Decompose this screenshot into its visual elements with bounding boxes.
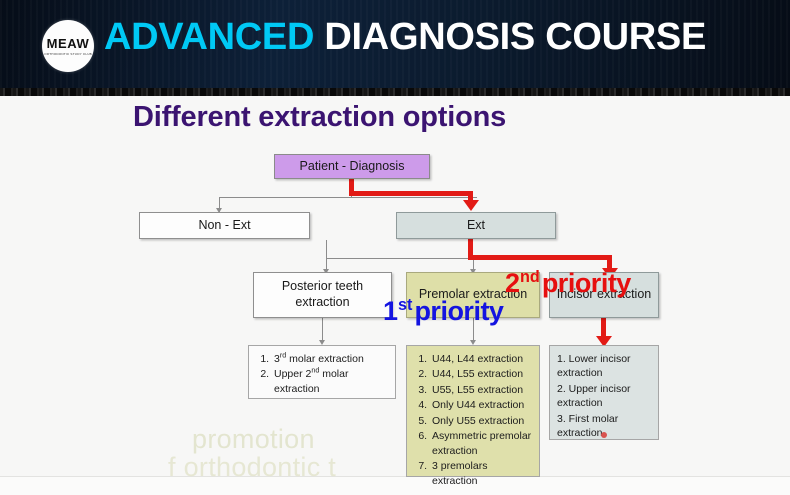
connector-row1-horizontal [219,197,477,198]
annotation-2-ordinal: 2 [505,268,520,298]
list-posterior-items: 3rd molar extractionUpper 2nd molar extr… [256,352,390,396]
node-non-ext-label: Non - Ext [198,218,250,234]
list-item: 2. Upper incisor extraction [557,382,653,411]
list-incisor-details[interactable]: 1. Lower incisor extraction2. Upper inci… [549,345,659,440]
annotation-second-priority: 2ndpriority [505,268,631,299]
node-patient-diagnosis[interactable]: Patient - Diagnosis [274,154,430,179]
annotation-1-word: priority [414,296,503,326]
list-posterior-details[interactable]: 3rd molar extractionUpper 2nd molar extr… [248,345,396,399]
course-title: ADVANCED DIAGNOSIS COURSE [104,16,706,59]
list-item: 3rd molar extraction [272,352,390,366]
meaw-logo: MEAW ORTHODONTIC STUDY CLUB [42,20,94,72]
list-incisor-items: 1. Lower incisor extraction2. Upper inci… [557,352,653,441]
list-premolar-details[interactable]: U44, L44 extractionU44, L55 extractionU5… [406,345,540,477]
node-ext-label: Ext [467,218,485,234]
logo-subtext: ORTHODONTIC STUDY CLUB [44,52,92,56]
course-title-advanced: ADVANCED [104,16,314,58]
node-posterior-teeth-extraction[interactable]: Posterior teeth extraction [253,272,392,318]
annotation-first-priority: 1stpriority [383,296,503,327]
slide-body-background [0,96,790,476]
page-title: Different extraction options [133,101,506,134]
list-item: 1. Lower incisor extraction [557,352,653,381]
banner-bottom-strip [0,88,790,96]
annotation-1-suffix: st [398,296,412,314]
incisor-list-marker [601,432,607,438]
slide-canvas: MEAW ORTHODONTIC STUDY CLUB ADVANCED DIA… [0,0,790,495]
node-ext[interactable]: Ext [396,212,556,239]
red-arrowhead-ext [463,200,479,211]
list-item: Asymmetric premolar extraction [430,429,534,458]
annotation-2-suffix: nd [520,268,540,286]
red-path-root-to-ext-horizontal [349,191,473,196]
logo-text: MEAW [47,37,90,50]
list-item: Only U44 extraction [430,398,534,412]
annotation-1-ordinal: 1 [383,296,398,326]
node-posterior-label: Posterior teeth extraction [254,279,391,310]
node-patient-diagnosis-label: Patient - Diagnosis [300,159,405,175]
slide-footer-strip [0,476,790,495]
list-item: Only U55 extraction [430,414,534,428]
red-path-ext-to-incisor-horizontal [468,255,612,260]
list-item: U44, L44 extraction [430,352,534,366]
list-premolar-items: U44, L44 extractionU44, L55 extractionU5… [414,352,534,488]
list-item: U55, L55 extraction [430,383,534,397]
list-item: Upper 2nd molar extraction [272,367,390,396]
node-non-ext[interactable]: Non - Ext [139,212,310,239]
list-item: 3 premolars extraction [430,459,534,488]
connector-ext-stem [326,240,327,258]
annotation-2-word: priority [542,268,631,298]
list-item: U44, L55 extraction [430,367,534,381]
course-title-rest: DIAGNOSIS COURSE [324,16,706,58]
